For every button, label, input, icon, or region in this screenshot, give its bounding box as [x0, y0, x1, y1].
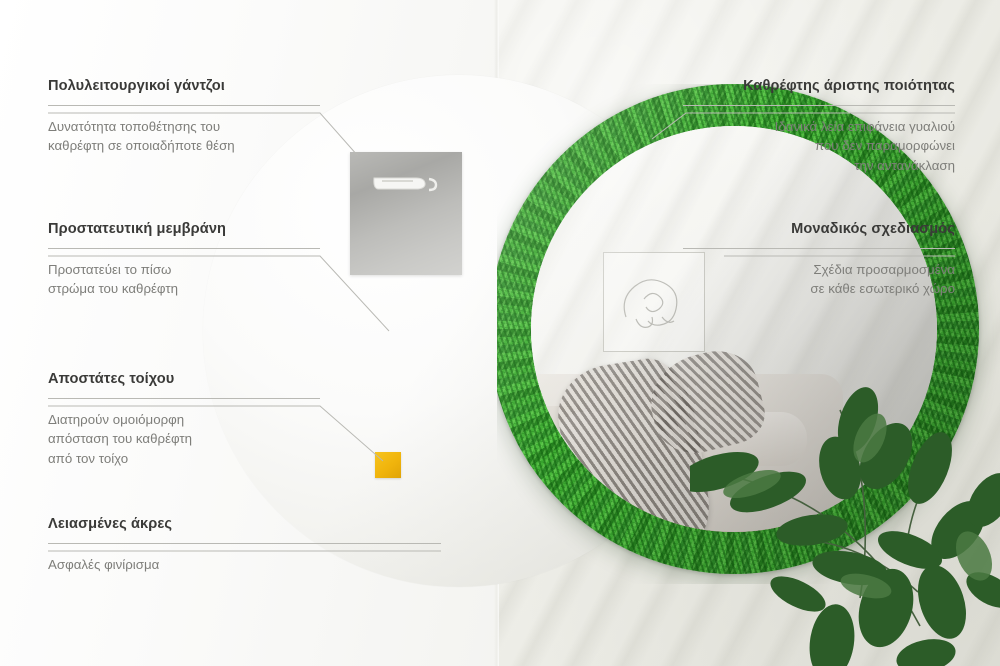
callout-membrane-title: Προστατευτική μεμβράνη	[48, 221, 320, 239]
callout-membrane-body: Προστατεύει το πίσωστρώμα του καθρέφτη	[48, 260, 320, 299]
wall-spacer-chip	[375, 452, 401, 478]
callout-membrane-rule	[48, 248, 320, 249]
wall-hook-icon	[372, 174, 440, 193]
callout-unique-design: Μοναδικός σχεδιασμός Σχέδια προσαρμοσμέν…	[683, 221, 955, 299]
callout-edges-rule	[48, 543, 441, 544]
callout-spacers: Αποστάτες τοίχου Διατηρούν ομοιόμορφηαπό…	[48, 371, 320, 468]
callout-quality-mirror-title: Καθρέφτης άριστης ποιότητας	[683, 78, 955, 96]
callout-hooks-rule	[48, 105, 320, 106]
callout-membrane: Προστατευτική μεμβράνη Προστατεύει το πί…	[48, 221, 320, 299]
callout-spacers-body: Διατηρούν ομοιόμορφηαπόσταση του καθρέφτ…	[48, 410, 320, 469]
callout-spacers-title: Αποστάτες τοίχου	[48, 371, 320, 389]
hook-detail-plate	[350, 152, 462, 275]
callout-unique-design-body: Σχέδια προσαρμοσμένασε κάθε εσωτερικό χώ…	[683, 260, 955, 299]
callout-edges-title: Λειασμένες άκρες	[48, 516, 441, 534]
callout-edges: Λειασμένες άκρες Ασφαλές φινίρισμα	[48, 516, 441, 574]
callout-unique-design-rule	[683, 248, 955, 249]
callout-hooks-body: Δυνατότητα τοποθέτησης τουκαθρέφτη σε οπ…	[48, 117, 320, 156]
callout-unique-design-title: Μοναδικός σχεδιασμός	[683, 221, 955, 239]
callout-spacers-rule	[48, 398, 320, 399]
callout-quality-mirror-body: Ιδανικά λεία επιφάνεια γυαλιούπου δεν πα…	[683, 117, 955, 176]
callout-edges-body: Ασφαλές φινίρισμα	[48, 555, 441, 575]
foreground-leaves	[690, 380, 1000, 666]
callout-quality-mirror: Καθρέφτης άριστης ποιότητας Ιδανικά λεία…	[683, 78, 955, 175]
callout-quality-mirror-rule	[683, 105, 955, 106]
callout-hooks-title: Πολυλειτουργικοί γάντζοι	[48, 78, 320, 96]
callout-hooks: Πολυλειτουργικοί γάντζοι Δυνατότητα τοπο…	[48, 78, 320, 156]
infographic-stage: Πολυλειτουργικοί γάντζοι Δυνατότητα τοπο…	[0, 0, 1000, 666]
